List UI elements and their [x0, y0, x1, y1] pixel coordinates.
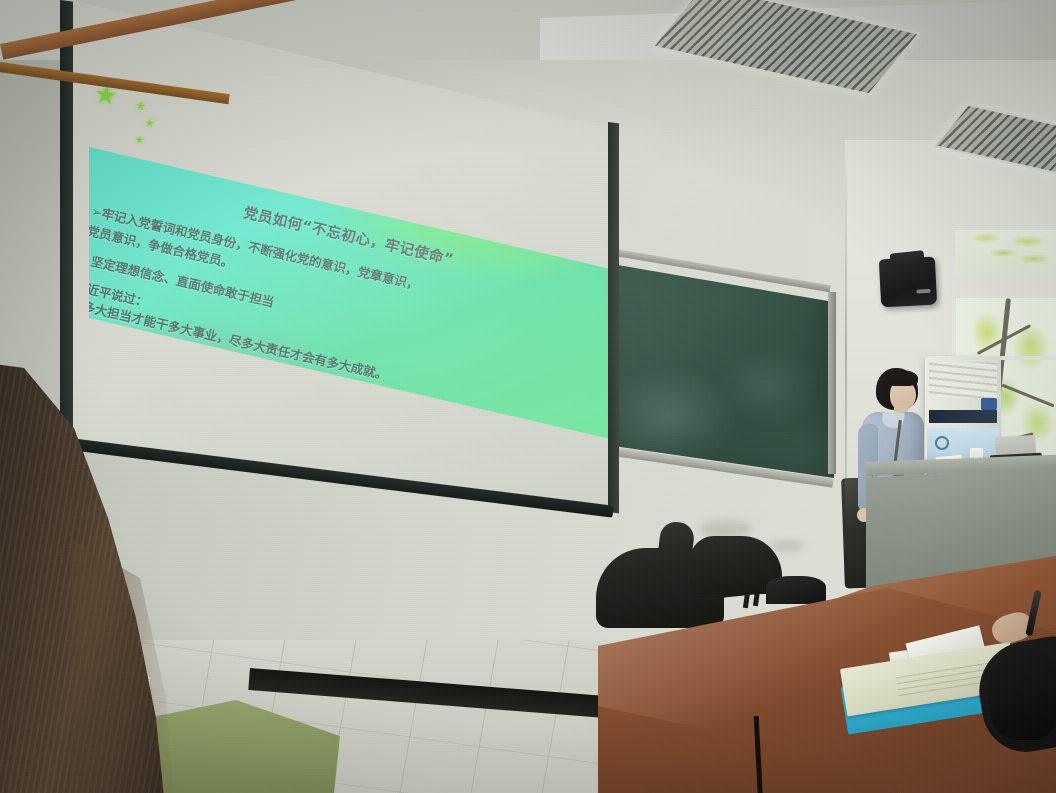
screen-edge-right [608, 122, 619, 513]
ac-vents [929, 362, 997, 398]
transom-window [955, 230, 1056, 274]
flag-star-icon: ★ [134, 136, 144, 147]
poster-logo-icon [935, 436, 949, 450]
speaker-logo [916, 289, 930, 294]
ac-display-strip [929, 410, 997, 423]
ac-badge [981, 398, 997, 410]
classroom-photo: ★ ★ ★ ★ 党员如何“不忘初心，牢记使命” ➢牢记入党誓词和党员身份，不断强… [0, 0, 1056, 793]
hair-soft-edge [70, 538, 180, 793]
student-head [988, 648, 1056, 740]
tree-foliage [955, 230, 1056, 274]
tree-branch [1001, 384, 1054, 408]
flag-star-icon: ★ [135, 99, 147, 112]
presenter-fringe [884, 370, 918, 386]
blackboard-frame-right [828, 292, 836, 474]
foreground-student-hair [0, 358, 200, 793]
flag-star-icon: ★ [144, 119, 154, 130]
wall-speaker-icon [879, 257, 937, 308]
